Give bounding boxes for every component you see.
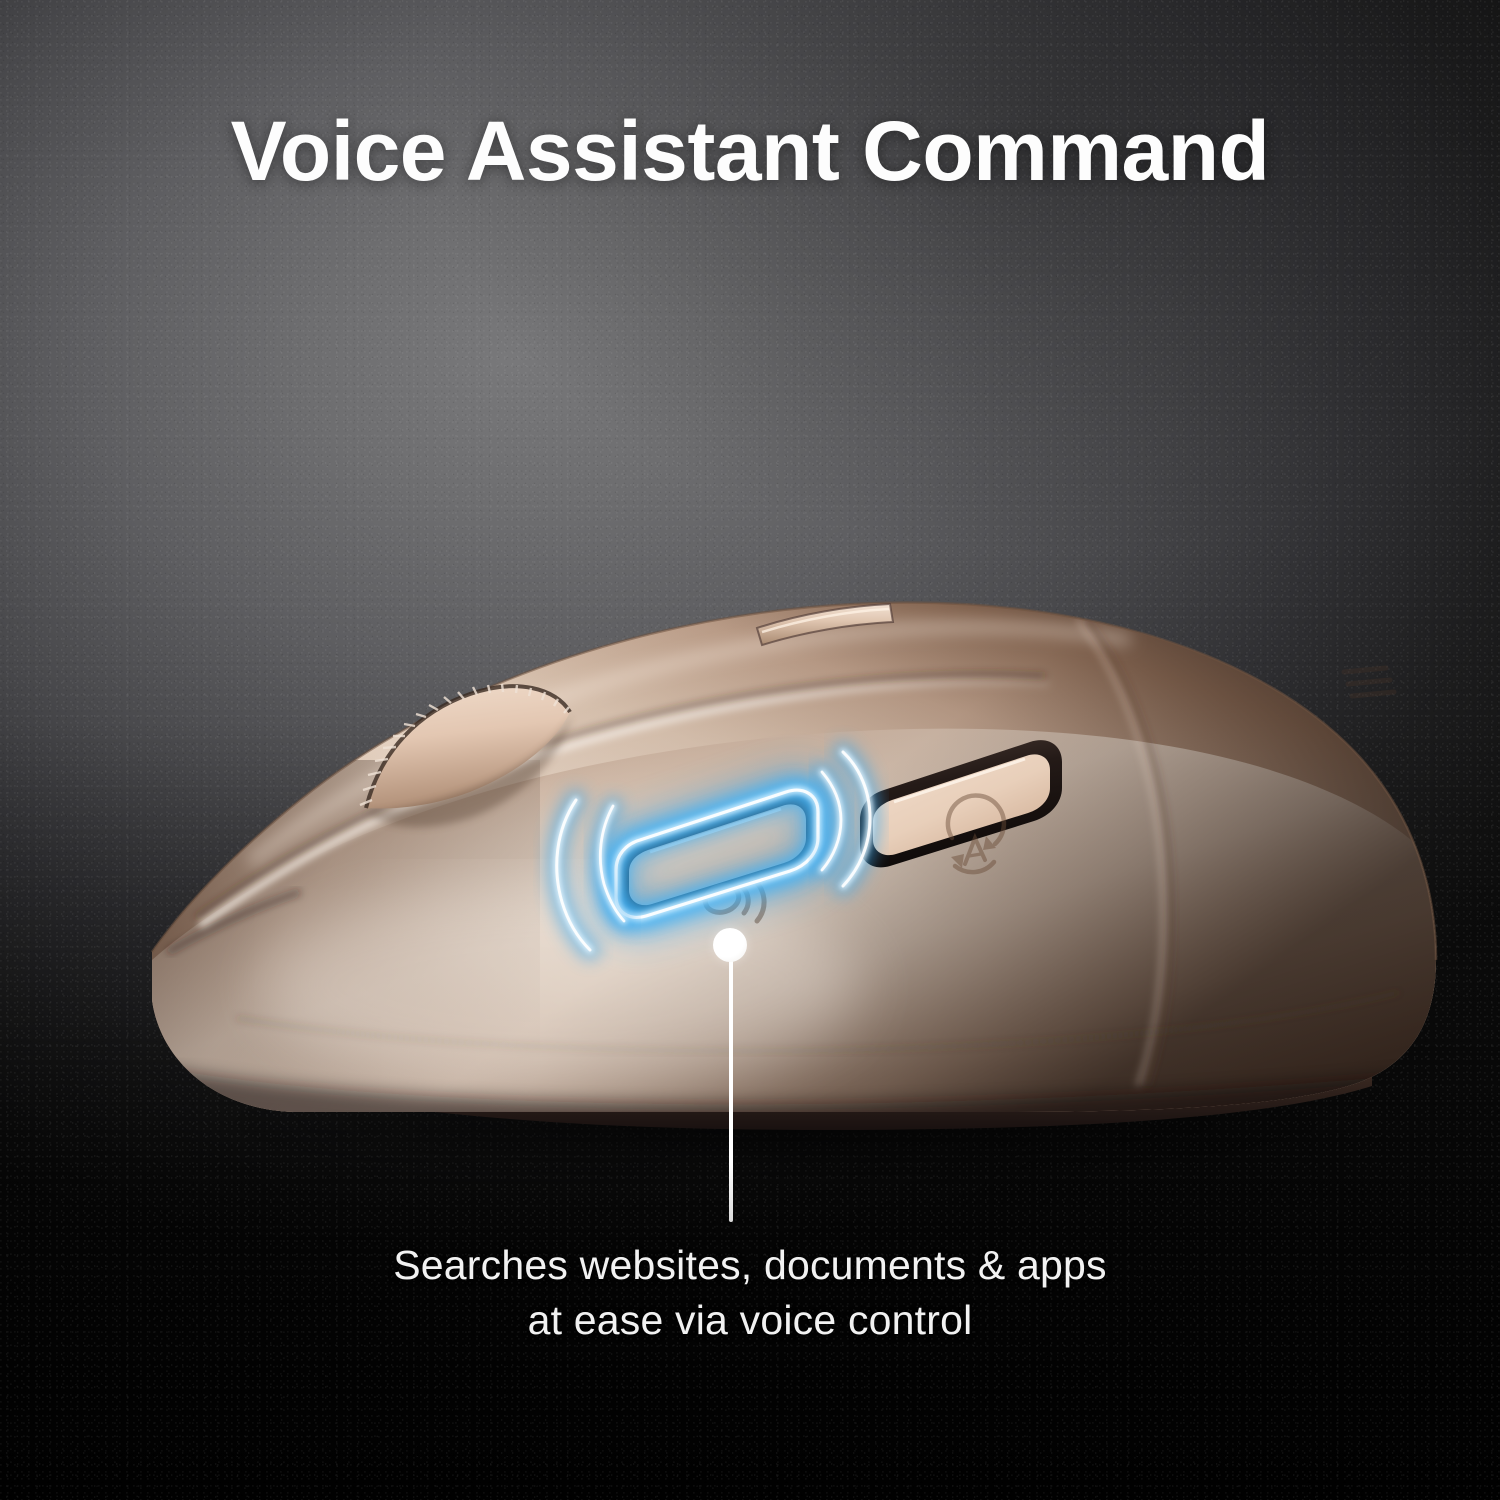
feature-caption-line2: at ease via voice control bbox=[0, 1293, 1500, 1348]
brand-mark-icon bbox=[1344, 668, 1394, 696]
feature-caption-line1: Searches websites, documents & apps bbox=[0, 1238, 1500, 1293]
product-marketing-image: Voice Assistant Command bbox=[0, 0, 1500, 1500]
mouse-shell bbox=[120, 590, 1480, 1150]
feature-caption: Searches websites, documents & apps at e… bbox=[0, 1238, 1500, 1347]
mouse-lower-highlight bbox=[260, 880, 860, 1090]
page-title: Voice Assistant Command bbox=[0, 108, 1500, 195]
